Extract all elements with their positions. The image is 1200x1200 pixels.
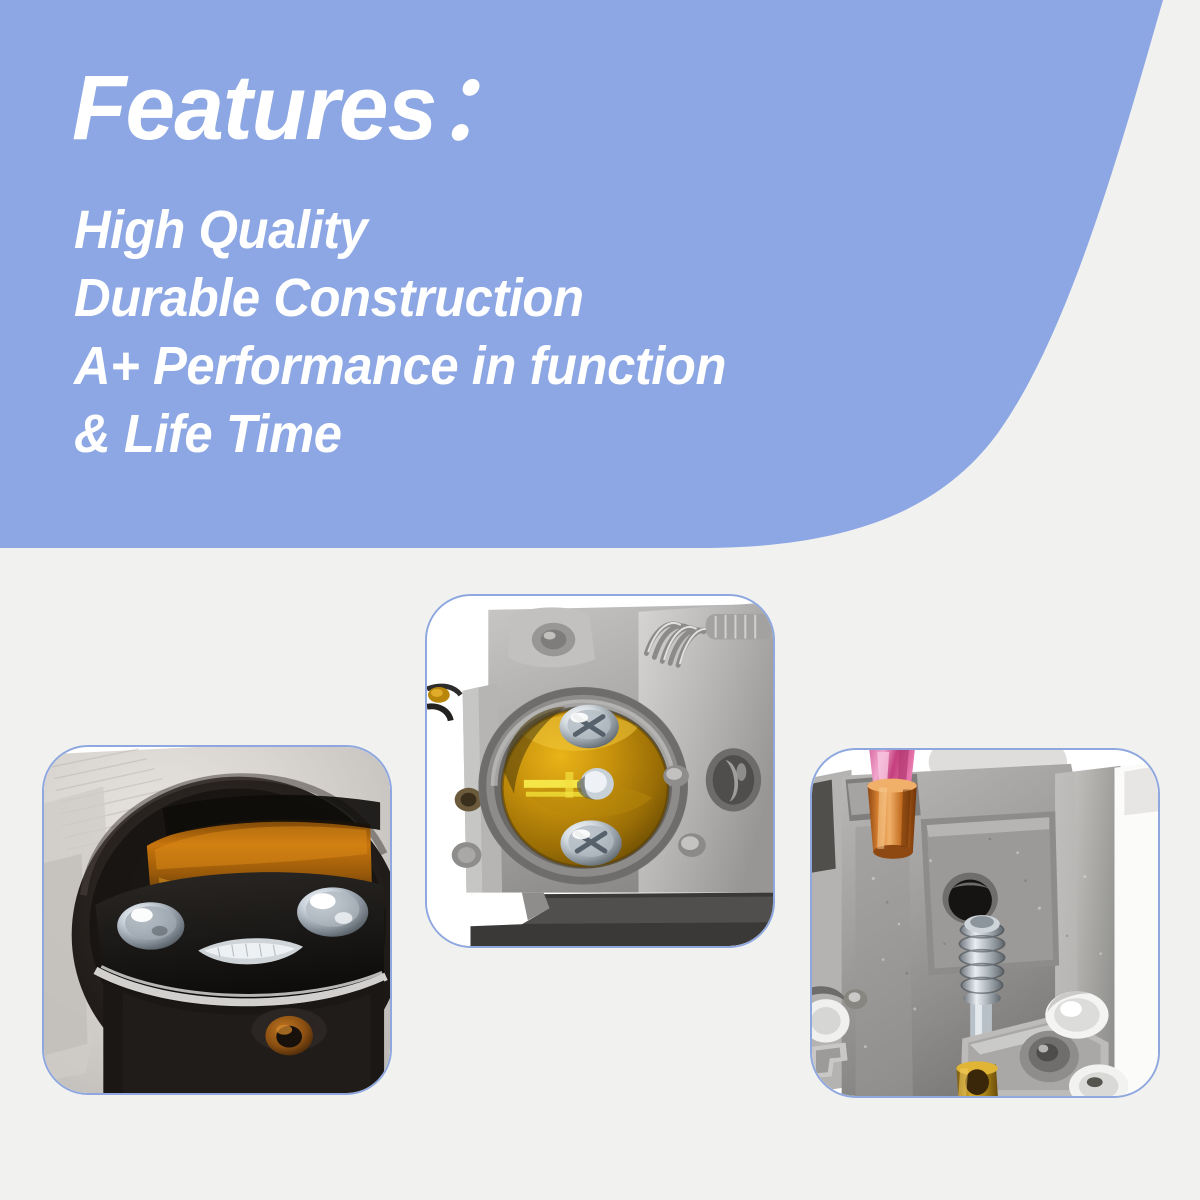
product-photo-panel-left (42, 745, 392, 1095)
carburetor-throat-closeup-image (44, 747, 390, 1093)
feature-item-3: A+ Performance in function (74, 332, 726, 400)
product-photo-panel-right (810, 748, 1160, 1098)
features-banner: Features： High Quality Durable Construct… (0, 0, 1200, 560)
product-photo-panel-center (425, 594, 775, 948)
product-feature-image: Features： High Quality Durable Construct… (0, 0, 1200, 1200)
banner-text-block: Features： High Quality Durable Construct… (0, 0, 1000, 560)
page-title: Features： (72, 62, 525, 154)
carburetor-bore-brass-valve-image (427, 596, 773, 946)
feature-item-1: High Quality (74, 196, 726, 264)
feature-item-4: & Life Time (74, 400, 726, 468)
carburetor-body-linkage-image (812, 750, 1158, 1096)
feature-list: High Quality Durable Construction A+ Per… (74, 196, 768, 468)
feature-item-2: Durable Construction (74, 264, 726, 332)
